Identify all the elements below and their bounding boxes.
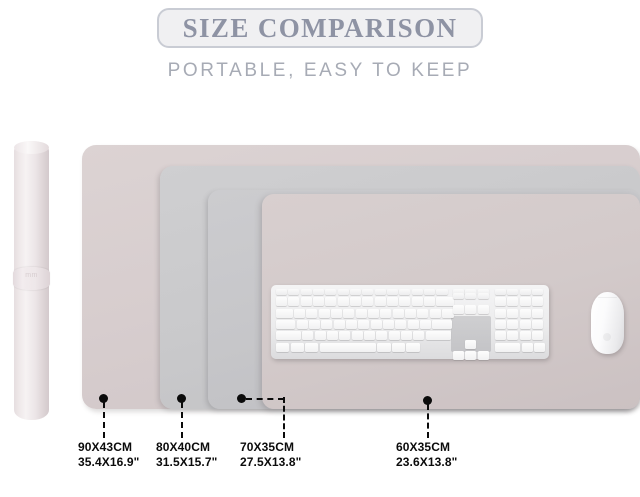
keyboard-key [399,289,410,295]
keyboard-key [392,343,405,352]
keyboard-key [420,320,431,329]
keyboard-row [276,297,455,306]
label-70x35: 70X35CM 27.5X13.8" [240,440,301,470]
keyboard-numpad-row [495,309,544,318]
keyboard-key [375,289,386,295]
callout-line-80 [181,402,183,438]
keyboard-key [465,340,476,349]
label-80x40: 80X40CM 31.5X15.7" [156,440,217,470]
keyboard-key [325,289,336,295]
keyboard-key [294,309,305,318]
keyboard-key [364,331,375,340]
keyboard-key [507,289,518,295]
keyboard-key [377,343,390,352]
keyboard-key [327,331,338,340]
keyboard-key [288,297,299,306]
keyboard-row [276,309,455,318]
keyboard-nav-row [453,305,490,314]
keyboard-key [305,343,318,352]
keyboard-numpad-row [495,343,546,352]
keyboard-key [302,331,313,340]
keyboard-key [320,343,376,352]
keyboard-key [339,331,350,340]
keyboard-key [406,343,419,352]
mat-stack [0,0,640,497]
keyboard-key [276,320,295,329]
keyboard-nav-row [453,293,490,299]
keyboard-key [362,289,373,295]
keyboard-key [362,297,373,306]
keyboard-key [319,309,330,318]
keyboard-key [350,297,361,306]
keyboard-key [276,331,301,340]
apple-magic-mouse [591,292,624,354]
keyboard-key [301,289,312,295]
keyboard-row [276,289,449,295]
keyboard-key [334,320,345,329]
keyboard-key [507,331,518,340]
keyboard-key [465,351,476,360]
keyboard-numpad-row [495,289,544,295]
keyboard-key [495,309,506,318]
keyboard-key [338,289,349,295]
keyboard-key [276,289,287,295]
keyboard-key [297,320,308,329]
keyboard-numpad-row [495,320,544,329]
keyboard-key [426,331,451,340]
keyboard-row [276,331,452,340]
keyboard-key [343,309,354,318]
keyboard-key [375,297,386,306]
keyboard-key [346,320,357,329]
keyboard-key [321,320,332,329]
keyboard-key [424,289,435,295]
keyboard-row [276,320,454,329]
keyboard-key [520,320,531,329]
keyboard-key [413,331,424,340]
keyboard-key [371,320,382,329]
keyboard-key [352,331,363,340]
callout-line-70-horizontal [246,398,284,400]
keyboard-key [495,343,520,352]
keyboard-key [408,320,419,329]
keyboard-key [478,305,489,314]
keyboard-key [338,297,349,306]
keyboard-key [453,305,464,314]
keyboard-key [465,305,476,314]
keyboard-key [401,331,412,340]
keyboard-key [380,309,391,318]
keyboard-key [393,309,404,318]
keyboard-numpad-row [495,297,544,306]
keyboard-key [331,309,342,318]
apple-keyboard [271,285,549,359]
label-60x35: 60X35CM 23.6X13.8" [396,440,457,470]
keyboard-key [309,320,320,329]
keyboard-key [532,297,543,306]
keyboard-key [534,343,545,352]
keyboard-key [532,289,543,295]
keyboard-key [495,320,506,329]
keyboard-key [389,331,400,340]
keyboard-key [478,351,489,360]
callout-line-70-vertical [283,397,285,438]
keyboard-numpad-row [495,331,544,340]
keyboard-key [453,351,464,360]
keyboard-key [306,309,317,318]
keyboard-key [424,297,435,306]
keyboard-key [368,309,379,318]
keyboard-key [495,289,506,295]
keyboard-key [507,297,518,306]
keyboard-key [520,297,531,306]
keyboard-key [356,309,367,318]
keyboard-key [412,297,423,306]
keyboard-key [288,289,299,295]
keyboard-key [436,297,453,306]
keyboard-key [325,297,336,306]
keyboard-key [453,293,464,299]
keyboard-key [520,309,531,318]
keyboard-key [520,289,531,295]
keyboard-key [291,343,304,352]
keyboard-key [276,343,289,352]
keyboard-key [532,320,543,329]
keyboard-key [387,297,398,306]
keyboard-key [405,309,416,318]
label-90x43: 90X43CM 35.4X16.9" [78,440,139,470]
keyboard-key [395,320,406,329]
keyboard-key [532,331,543,340]
keyboard-key [430,309,441,318]
keyboard-nav-row [453,351,490,360]
keyboard-key [358,320,369,329]
keyboard-key [520,331,531,340]
keyboard-key [383,320,394,329]
keyboard-key [313,297,324,306]
keyboard-row [276,343,421,352]
keyboard-key [522,343,533,352]
keyboard-key [301,297,312,306]
keyboard-key [350,289,361,295]
callout-dot-70 [237,394,246,403]
keyboard-key [442,309,454,318]
keyboard-key [412,289,423,295]
keyboard-key [313,289,324,295]
mouse-seam [598,297,617,298]
keyboard-key [276,309,293,318]
keyboard-key [465,293,476,299]
keyboard-key [417,309,428,318]
keyboard-key [276,297,287,306]
keyboard-key [387,289,398,295]
keyboard-key [507,320,518,329]
mouse-sensor-dot [603,333,611,341]
keyboard-key [436,289,447,295]
callout-line-90 [103,402,105,438]
keyboard-key [399,297,410,306]
keyboard-key [495,297,506,306]
keyboard-key [315,331,326,340]
keyboard-key [532,309,543,318]
keyboard-nav-row [465,340,477,349]
callout-line-60 [427,404,429,438]
keyboard-key [432,320,452,329]
keyboard-key [376,331,387,340]
keyboard-key [478,293,489,299]
keyboard-key [507,309,518,318]
keyboard-key [495,331,506,340]
